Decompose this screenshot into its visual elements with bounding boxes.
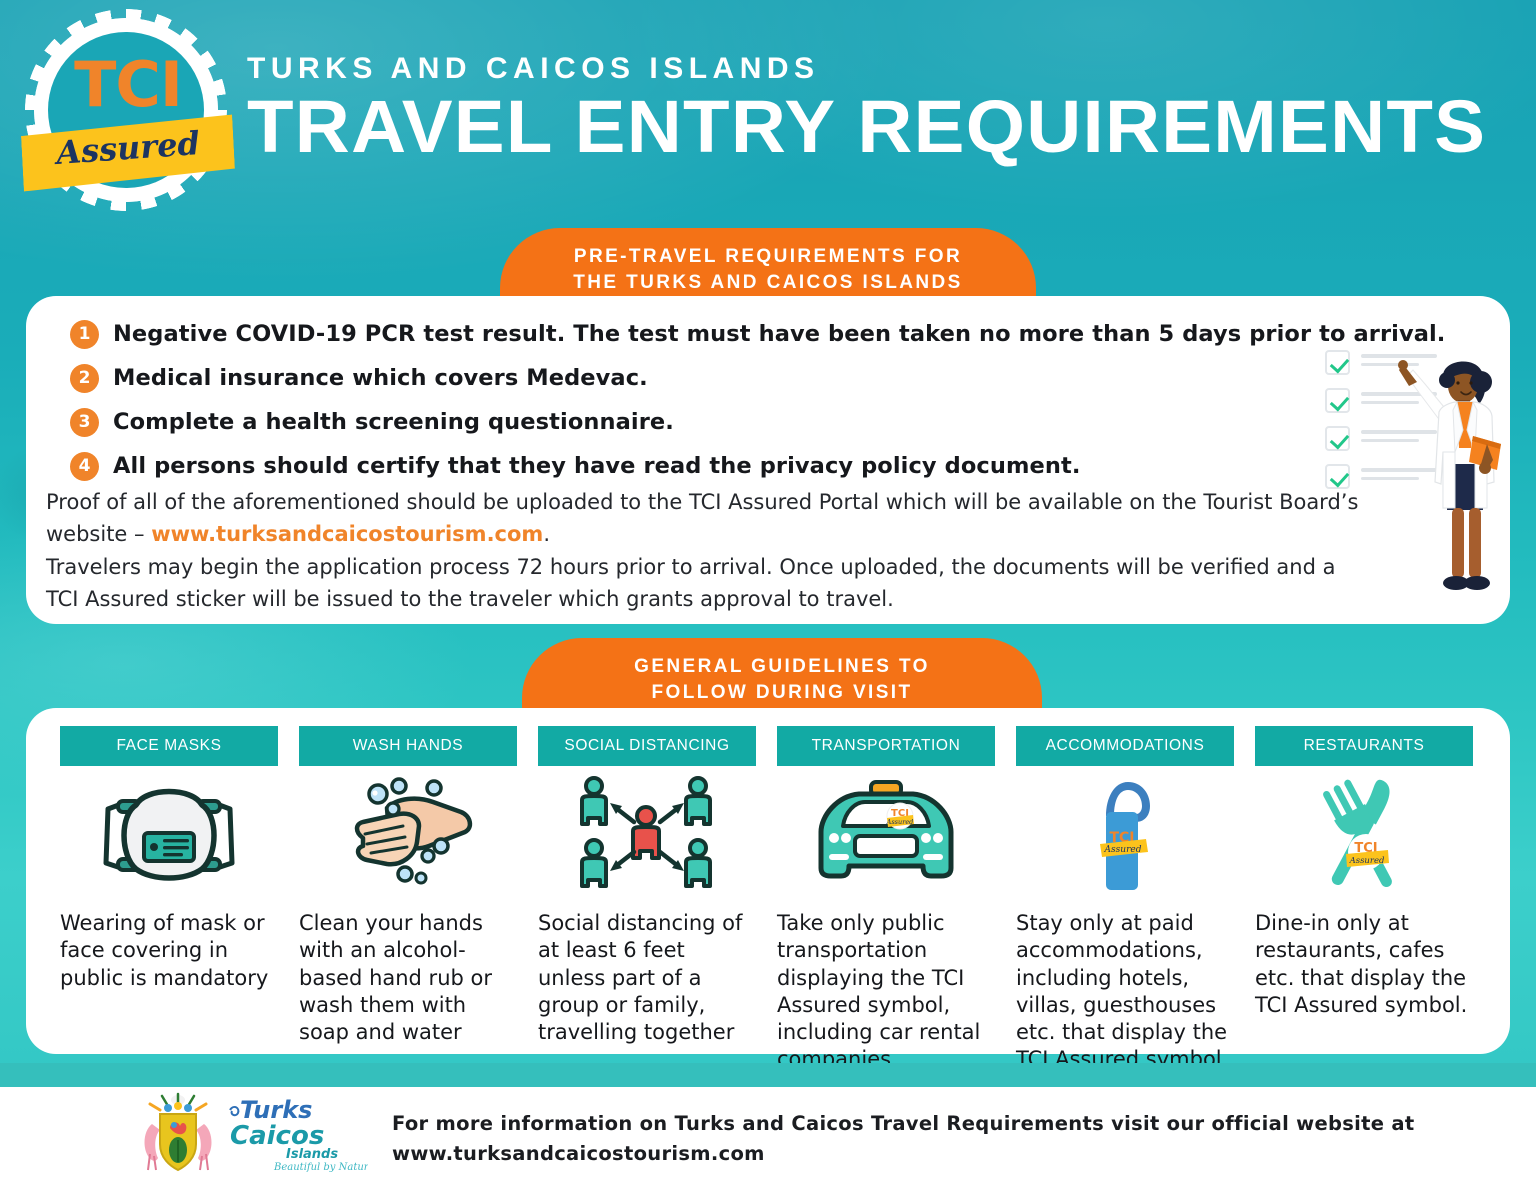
infographic-page: TCI Assured TURKS AND CAICOS ISLANDS TRA… bbox=[0, 0, 1536, 1185]
face-mask-icon bbox=[60, 770, 278, 902]
requirement-number: 3 bbox=[70, 408, 99, 437]
guideline-text: Stay only at paid accommodations, includ… bbox=[1016, 910, 1234, 1074]
guideline-heading: SOCIAL DISTANCING bbox=[538, 726, 756, 766]
footer-line-1: For more information on Turks and Caicos… bbox=[392, 1109, 1414, 1139]
checkmark-icon bbox=[1325, 388, 1350, 413]
header: TCI Assured TURKS AND CAICOS ISLANDS TRA… bbox=[0, 0, 1536, 228]
svg-text:Assured: Assured bbox=[886, 818, 914, 826]
pre-travel-banner-line2: THE TURKS AND CAICOS ISLANDS bbox=[500, 270, 1036, 296]
requirements-list: 1 Negative COVID-19 PCR test result. The… bbox=[70, 318, 1300, 494]
requirement-number: 4 bbox=[70, 452, 99, 481]
requirement-text: Negative COVID-19 PCR test result. The t… bbox=[113, 318, 1445, 351]
turks-caicos-destination-logo: Turks Caicos Islands Beautiful by Nature bbox=[228, 1092, 368, 1179]
upload-instructions-paragraph: Proof of all of the aforementioned shoul… bbox=[46, 487, 1366, 551]
guidelines-columns: FACE MASKS Wearing of mask or bbox=[60, 726, 1480, 1074]
upload-instructions-period: . bbox=[543, 522, 550, 546]
tci-assured-logo: TCI Assured bbox=[18, 12, 238, 218]
svg-text:Islands: Islands bbox=[286, 1147, 338, 1162]
pre-travel-banner-line1: PRE-TRAVEL REQUIREMENTS FOR bbox=[500, 244, 1036, 270]
guideline-heading: RESTAURANTS bbox=[1255, 726, 1473, 766]
requirement-number: 1 bbox=[70, 320, 99, 349]
footer-text: For more information on Turks and Caicos… bbox=[392, 1109, 1414, 1169]
guideline-heading: ACCOMMODATIONS bbox=[1016, 726, 1234, 766]
footer-divider-band bbox=[0, 1063, 1536, 1087]
requirement-text: Complete a health screening questionnair… bbox=[113, 406, 674, 439]
washing-hands-icon bbox=[299, 770, 517, 902]
guideline-column-social-distancing: SOCIAL DISTANCING bbox=[538, 726, 756, 1074]
pre-travel-paragraphs: Proof of all of the aforementioned shoul… bbox=[46, 487, 1366, 617]
guideline-text: Social distancing of at least 6 feet unl… bbox=[538, 910, 756, 1046]
guideline-heading: WASH HANDS bbox=[299, 726, 517, 766]
checkmark-icon bbox=[1325, 350, 1350, 375]
turks-caicos-coat-of-arms bbox=[138, 1092, 218, 1179]
guideline-column-wash-hands: WASH HANDS bbox=[299, 726, 517, 1074]
door-hanger-icon: TCI Assured bbox=[1016, 770, 1234, 902]
general-guidelines-banner-line1: GENERAL GUIDELINES TO bbox=[522, 654, 1042, 680]
title-block: TURKS AND CAICOS ISLANDS TRAVEL ENTRY RE… bbox=[247, 52, 1517, 164]
svg-text:Turks: Turks bbox=[240, 1096, 312, 1124]
footer-website[interactable]: www.turksandcaicostourism.com bbox=[392, 1139, 1414, 1169]
fork-knife-icon: TCI Assured bbox=[1255, 770, 1473, 902]
page-subtitle: TURKS AND CAICOS ISLANDS bbox=[247, 52, 1517, 85]
checkmark-icon bbox=[1325, 464, 1350, 489]
general-guidelines-banner-line2: FOLLOW DURING VISIT bbox=[522, 680, 1042, 706]
requirement-item: 4 All persons should certify that they h… bbox=[70, 450, 1300, 486]
guideline-column-transportation: TRANSPORTATION bbox=[777, 726, 995, 1074]
application-process-paragraph: Travelers may begin the application proc… bbox=[46, 552, 1366, 616]
guideline-column-restaurants: RESTAURANTS bbox=[1255, 726, 1473, 1074]
guideline-text: Clean your hands with an alcohol-based h… bbox=[299, 910, 517, 1046]
doctor-illustration bbox=[1395, 352, 1515, 622]
guideline-column-face-masks: FACE MASKS Wearing of mask or bbox=[60, 726, 278, 1074]
guideline-text: Take only public transportation displayi… bbox=[777, 910, 995, 1074]
taxi-car-icon: TCI Assured bbox=[777, 770, 995, 902]
requirement-item: 1 Negative COVID-19 PCR test result. The… bbox=[70, 318, 1300, 354]
requirement-number: 2 bbox=[70, 364, 99, 393]
logo-tci-text: TCI bbox=[18, 54, 238, 116]
svg-text:Assured: Assured bbox=[1349, 856, 1385, 866]
requirement-item: 3 Complete a health screening questionna… bbox=[70, 406, 1300, 442]
requirement-item: 2 Medical insurance which covers Medevac… bbox=[70, 362, 1300, 398]
guideline-heading: FACE MASKS bbox=[60, 726, 278, 766]
social-distancing-icon bbox=[538, 770, 756, 902]
requirement-text: All persons should certify that they hav… bbox=[113, 450, 1080, 483]
guideline-text: Wearing of mask or face covering in publ… bbox=[60, 910, 278, 992]
guideline-text: Dine-in only at restaurants, cafes etc. … bbox=[1255, 910, 1473, 1019]
tourism-website-link[interactable]: www.turksandcaicostourism.com bbox=[151, 522, 543, 546]
guideline-column-accommodations: ACCOMMODATIONS TCI Assured Stay only at … bbox=[1016, 726, 1234, 1074]
guideline-heading: TRANSPORTATION bbox=[777, 726, 995, 766]
svg-text:Beautiful by Nature: Beautiful by Nature bbox=[273, 1162, 368, 1173]
svg-text:Assured: Assured bbox=[1104, 845, 1142, 855]
page-title: TRAVEL ENTRY REQUIREMENTS bbox=[247, 89, 1536, 164]
checkmark-icon bbox=[1325, 426, 1350, 451]
requirement-text: Medical insurance which covers Medevac. bbox=[113, 362, 648, 395]
